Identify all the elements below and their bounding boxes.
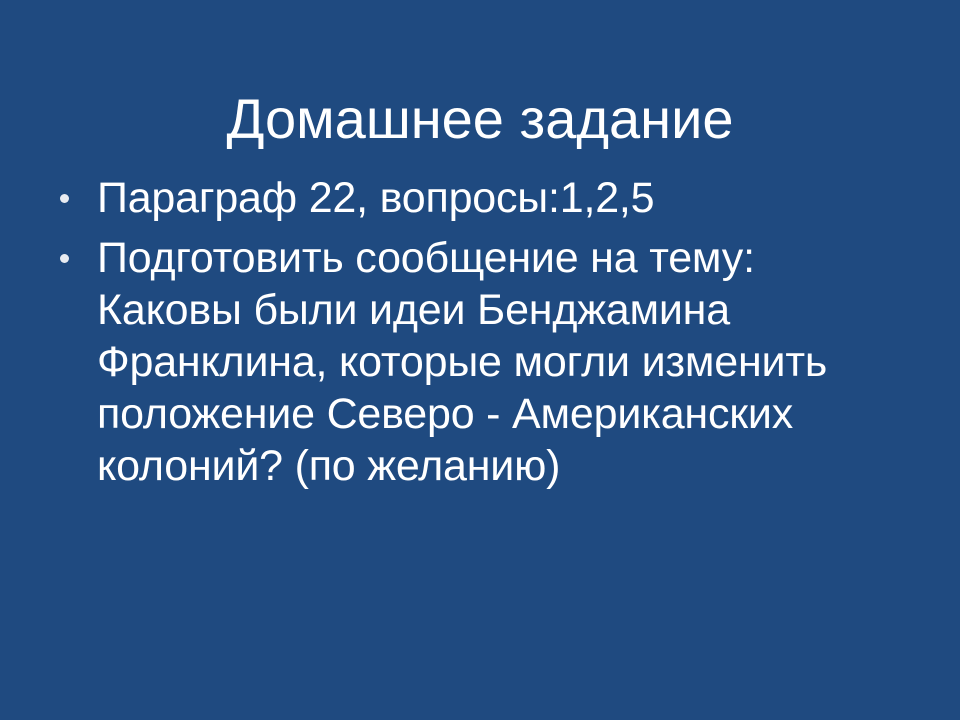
bullet-list-item: Подготовить сообщение на тему: Каковы бы… [48, 232, 872, 492]
slide-body-content: Параграф 22, вопросы:1,2,5 Подготовить с… [48, 172, 872, 492]
bullet-dot-icon [60, 254, 69, 263]
bullet-dot-icon [60, 194, 69, 203]
bullet-item-text: Подготовить сообщение на тему: Каковы бы… [97, 232, 857, 492]
slide-title: Домашнее задание [0, 90, 960, 149]
bullet-item-text: Параграф 22, вопросы:1,2,5 [97, 172, 872, 224]
presentation-slide: Домашнее задание Параграф 22, вопросы:1,… [0, 0, 960, 720]
bullet-list-item: Параграф 22, вопросы:1,2,5 [48, 172, 872, 224]
